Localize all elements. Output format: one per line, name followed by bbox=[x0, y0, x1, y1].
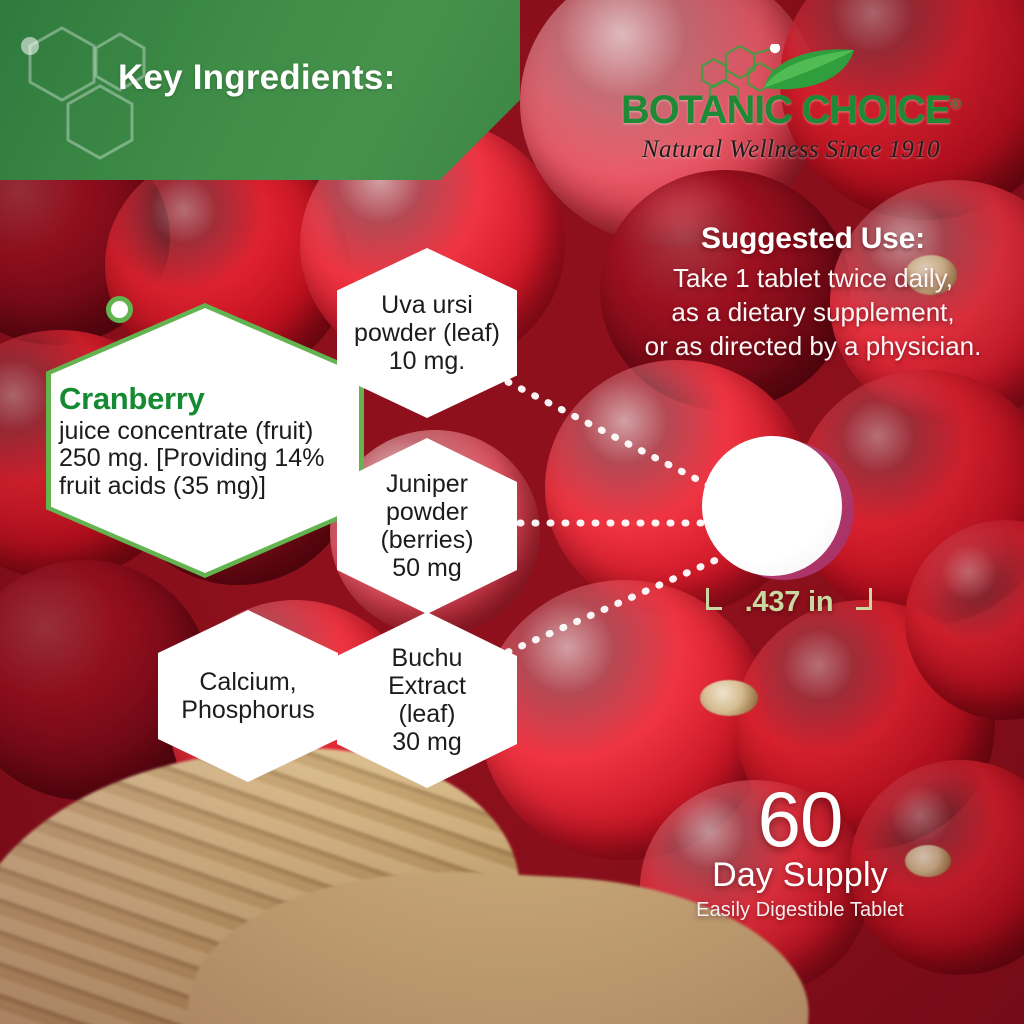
supply-label: Day Supply bbox=[620, 856, 980, 894]
tablet-graphic bbox=[700, 434, 870, 584]
logo-brand-text: BOTANIC CHOICE bbox=[621, 88, 950, 132]
hexagon-molecule-icon bbox=[16, 8, 186, 188]
logo-wordmark: BOTANIC CHOICE® bbox=[576, 88, 1006, 133]
tablet-face bbox=[702, 436, 842, 576]
uva-ursi-line2: powder (leaf) bbox=[345, 319, 509, 347]
day-supply-block: 60 Day Supply Easily Digestible Tablet bbox=[620, 782, 980, 922]
juniper-line3: (berries) bbox=[345, 526, 509, 554]
buchu-line1: Buchu bbox=[345, 644, 509, 672]
suggested-use-line2: as a dietary supplement, bbox=[598, 296, 1024, 330]
juniper-line1: Juniper bbox=[345, 470, 509, 498]
supply-sublabel: Easily Digestible Tablet bbox=[620, 899, 980, 922]
uva-ursi-line1: Uva ursi bbox=[345, 291, 509, 319]
dimension-value: .437 in bbox=[700, 586, 878, 619]
uva-ursi-line3: 10 mg. bbox=[345, 347, 509, 375]
suggested-use-line1: Take 1 tablet twice daily, bbox=[598, 262, 1024, 296]
banner-title: Key Ingredients: bbox=[118, 58, 478, 98]
suggested-use-block: Suggested Use: Take 1 tablet twice daily… bbox=[598, 222, 1024, 363]
juniper-line2: powder bbox=[345, 498, 509, 526]
cranberry-name: Cranberry bbox=[59, 381, 351, 417]
suggested-use-line3: or as directed by a physician. bbox=[598, 330, 1024, 364]
logo-tagline: Natural Wellness Since 1910 bbox=[576, 136, 1006, 164]
cranberry-description: juice concentrate (fruit) 250 mg. [Provi… bbox=[59, 417, 324, 500]
tablet-dimension: .437 in bbox=[700, 586, 878, 628]
brand-logo: BOTANIC CHOICE® Natural Wellness Since 1… bbox=[576, 46, 1006, 172]
product-infographic: Key Ingredients: BOTANIC CHOICE® Natural… bbox=[0, 0, 1024, 1024]
key-ingredients-banner: Key Ingredients: bbox=[0, 0, 520, 180]
juniper-line4: 50 mg bbox=[345, 554, 509, 582]
hex-node-dot-icon bbox=[106, 296, 133, 323]
calcium-line2: Phosphorus bbox=[166, 696, 330, 724]
supply-days: 60 bbox=[620, 782, 980, 856]
buchu-line2: Extract bbox=[345, 672, 509, 700]
calcium-line1: Calcium, bbox=[166, 668, 330, 696]
buchu-line3: (leaf) bbox=[345, 700, 509, 728]
buchu-line4: 30 mg bbox=[345, 728, 509, 756]
registered-trademark-icon: ® bbox=[950, 96, 961, 113]
suggested-use-title: Suggested Use: bbox=[598, 222, 1024, 256]
